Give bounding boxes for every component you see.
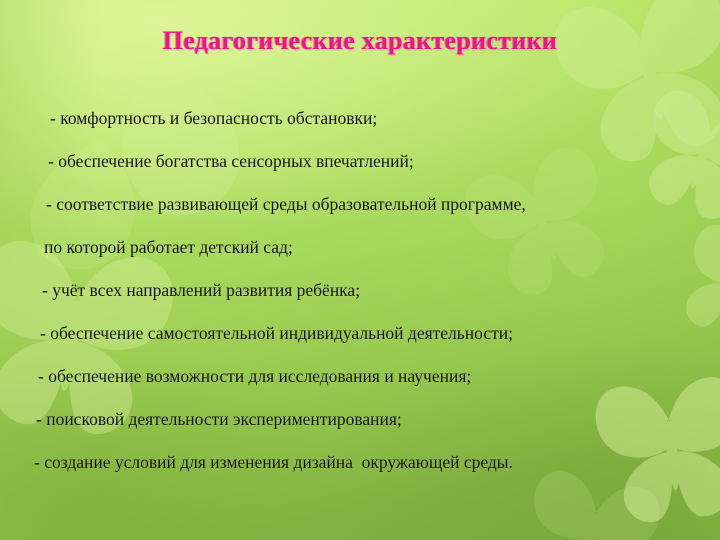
body-line-8: - поисковой деятельности экспериментиров… [36,411,402,429]
body-line-2: - обеспечение богатства сенсорных впечат… [48,153,414,171]
body-line-6: - обеспечение самостоятельной индивидуал… [40,325,513,343]
body-line-7: - обеспечение возможности для исследован… [38,368,471,386]
body-line-9: - создание условий для изменения дизайна… [34,454,513,472]
presentation-slide: Педагогические характеристики - комфортн… [0,0,720,540]
body-line-3: - соответствие развивающей среды образов… [46,196,526,214]
body-line-1: - комфортность и безопасность обстановки… [50,110,377,128]
body-line-4: по которой работает детский сад; [44,239,293,257]
body-line-5: - учёт всех направлений развития ребёнка… [42,282,360,300]
slide-title: Педагогические характеристики [0,26,720,56]
